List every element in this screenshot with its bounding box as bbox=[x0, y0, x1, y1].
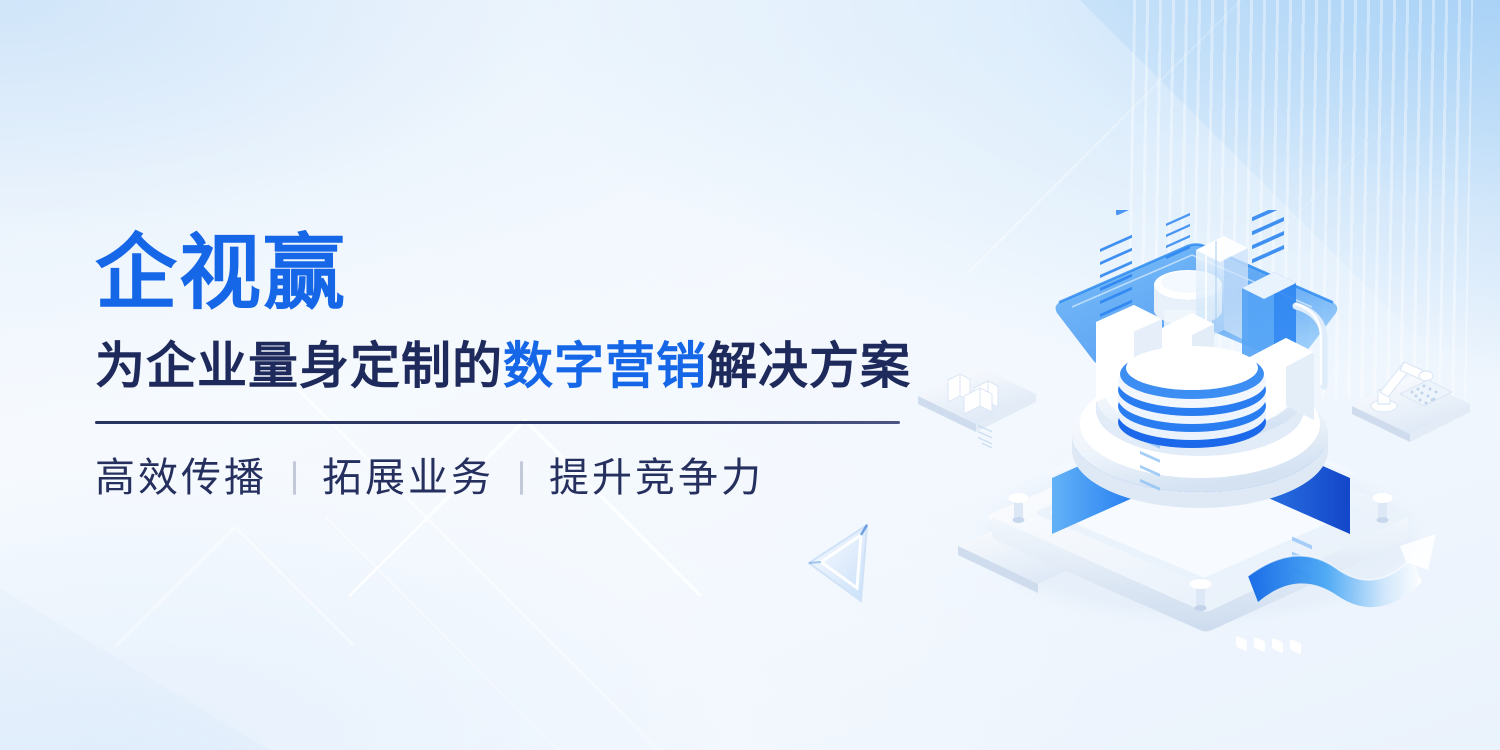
factory-tile bbox=[918, 366, 1036, 449]
banner-subtitle: 为企业量身定制的数字营销解决方案 bbox=[95, 338, 925, 396]
tagline-item-3: 提升竞争力 bbox=[549, 454, 764, 502]
brand-title: 企视赢 bbox=[95, 232, 925, 316]
subtitle-lead: 为企业量身定制的 bbox=[95, 338, 503, 394]
divider-rule bbox=[95, 421, 900, 424]
isometric-illustration bbox=[900, 210, 1500, 680]
indicator-dots bbox=[1236, 636, 1301, 655]
robot-arm-tile bbox=[1352, 362, 1470, 442]
subtitle-trail: 解决方案 bbox=[707, 338, 911, 394]
tagline-separator bbox=[520, 461, 523, 495]
background-chevron-outline bbox=[115, 525, 355, 750]
tagline-item-2: 拓展业务 bbox=[322, 454, 494, 502]
tagline-separator bbox=[293, 461, 296, 495]
tower-disc-stack bbox=[1118, 346, 1266, 448]
tagline-item-1: 高效传播 bbox=[95, 454, 267, 502]
banner-tagline: 高效传播 拓展业务 提升竞争力 bbox=[95, 454, 925, 502]
background-diagonal-line bbox=[325, 516, 694, 750]
subtitle-accent: 数字营销 bbox=[503, 338, 707, 394]
banner-text-block: 企视赢 为企业量身定制的数字营销解决方案 高效传播 拓展业务 提升竞争力 bbox=[95, 232, 925, 502]
marketing-banner: 企视赢 为企业量身定制的数字营销解决方案 高效传播 拓展业务 提升竞争力 bbox=[0, 0, 1500, 750]
